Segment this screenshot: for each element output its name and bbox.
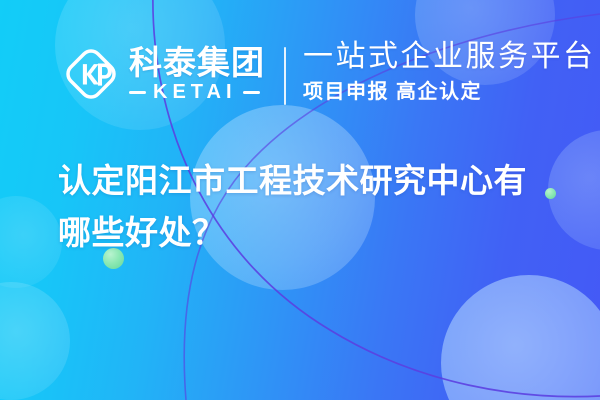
light-circle-lower-right-icon	[441, 275, 600, 400]
ketai-kp-monogram-logo-icon	[62, 45, 120, 103]
brand-header: 科泰集团 KETAI	[62, 38, 265, 110]
tagline-main: 一站式企业服务平台	[303, 40, 596, 74]
faint-bubble-bottom-left-icon	[0, 282, 70, 400]
tagline-sub: 项目申报 高企认定	[303, 80, 596, 104]
brand-rule-right-icon	[243, 91, 260, 94]
header-vertical-divider	[284, 47, 286, 105]
brand-text-block: 科泰集团 KETAI	[129, 46, 265, 103]
page-title: 认定阳江市工程技术研究中心有哪些好处？	[58, 155, 558, 259]
promo-banner: 科泰集团 KETAI 一站式企业服务平台 项目申报 高企认定 认定阳江市工程技术…	[0, 0, 600, 400]
faint-bubble-left-mid-icon	[0, 196, 62, 288]
tagline-block: 一站式企业服务平台 项目申报 高企认定	[303, 40, 596, 104]
brand-name-en-row: KETAI	[129, 82, 265, 102]
brand-name-en: KETAI	[146, 82, 243, 102]
brand-rule-left-icon	[129, 91, 146, 94]
brand-name-cn: 科泰集团	[129, 46, 265, 80]
